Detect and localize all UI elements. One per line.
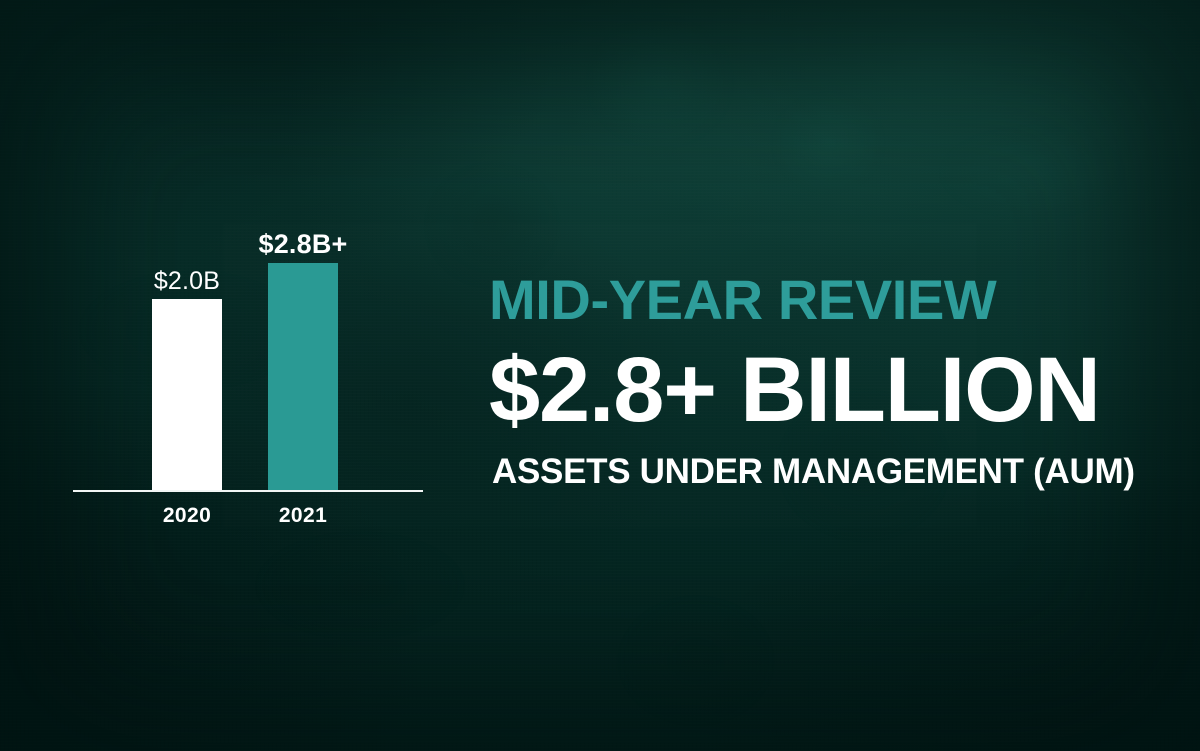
bar-value-label-2021: $2.8B+ <box>243 229 363 260</box>
bar-2020 <box>152 299 222 490</box>
aum-bar-chart: $2.0B $2.8B+ 2020 2021 <box>56 196 446 541</box>
infographic-canvas: $2.0B $2.8B+ 2020 2021 MID-YEAR REVIEW $… <box>0 0 1200 751</box>
headline-copy-block: MID-YEAR REVIEW $2.8+ BILLION ASSETS UND… <box>489 272 1139 489</box>
headline-text: $2.8+ BILLION <box>489 344 1139 436</box>
eyebrow-text: MID-YEAR REVIEW <box>489 272 1139 328</box>
bar-2021 <box>268 263 338 490</box>
chart-axis-line <box>73 490 423 492</box>
x-tick-label-2020: 2020 <box>132 504 242 528</box>
x-tick-label-2021: 2021 <box>248 504 358 528</box>
subline-text: ASSETS UNDER MANAGEMENT (AUM) <box>492 454 1139 489</box>
bar-value-label-2020: $2.0B <box>132 267 242 296</box>
chart-plot-area: $2.0B $2.8B+ 2020 2021 <box>56 196 446 541</box>
